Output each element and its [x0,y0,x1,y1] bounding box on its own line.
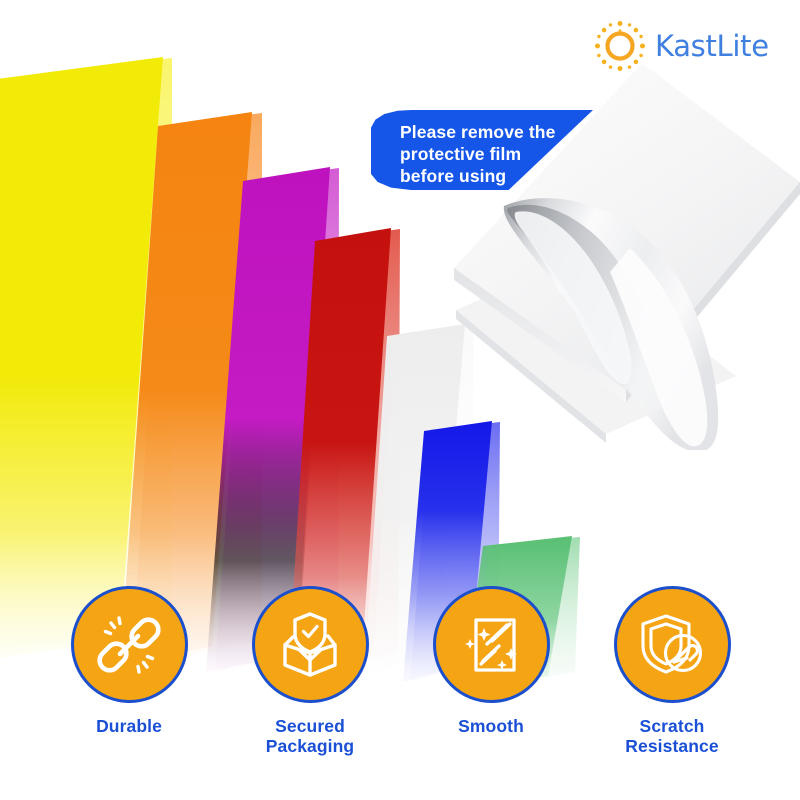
feature-label-line: Resistance [582,736,762,756]
feature-label-line: Smooth [401,716,581,736]
chain-link-icon [93,609,165,681]
shield-knife-icon [635,608,709,682]
feature-label: Secured Packaging [220,716,400,756]
feature-label-line: Secured [220,716,400,736]
feature-scratch-resistance: Scratch Resistance [582,586,762,756]
feature-badge-circle [252,586,369,703]
feature-label-line: Durable [39,716,219,736]
feature-label-line: Scratch [582,716,762,736]
feature-secured-packaging: Secured Packaging [220,586,400,756]
feature-durable: Durable [39,586,219,736]
feature-badge-circle [433,586,550,703]
product-image-canvas: Please remove the protective film before… [0,0,800,800]
feature-label: Smooth [401,716,581,736]
sun-icon [592,18,648,74]
feature-badge-circle [614,586,731,703]
feature-label: Durable [39,716,219,736]
brand-name: KastLite [655,29,769,63]
feature-label: Scratch Resistance [582,716,762,756]
brand-logo: KastLite [592,18,769,74]
feature-badge-circle [71,586,188,703]
feature-smooth: Smooth [401,586,581,736]
sparkle-panel-icon [455,609,527,681]
feature-label-line: Packaging [220,736,400,756]
shield-box-icon [273,608,347,682]
feature-badge-row: Durable Secured Packaging [0,586,800,776]
